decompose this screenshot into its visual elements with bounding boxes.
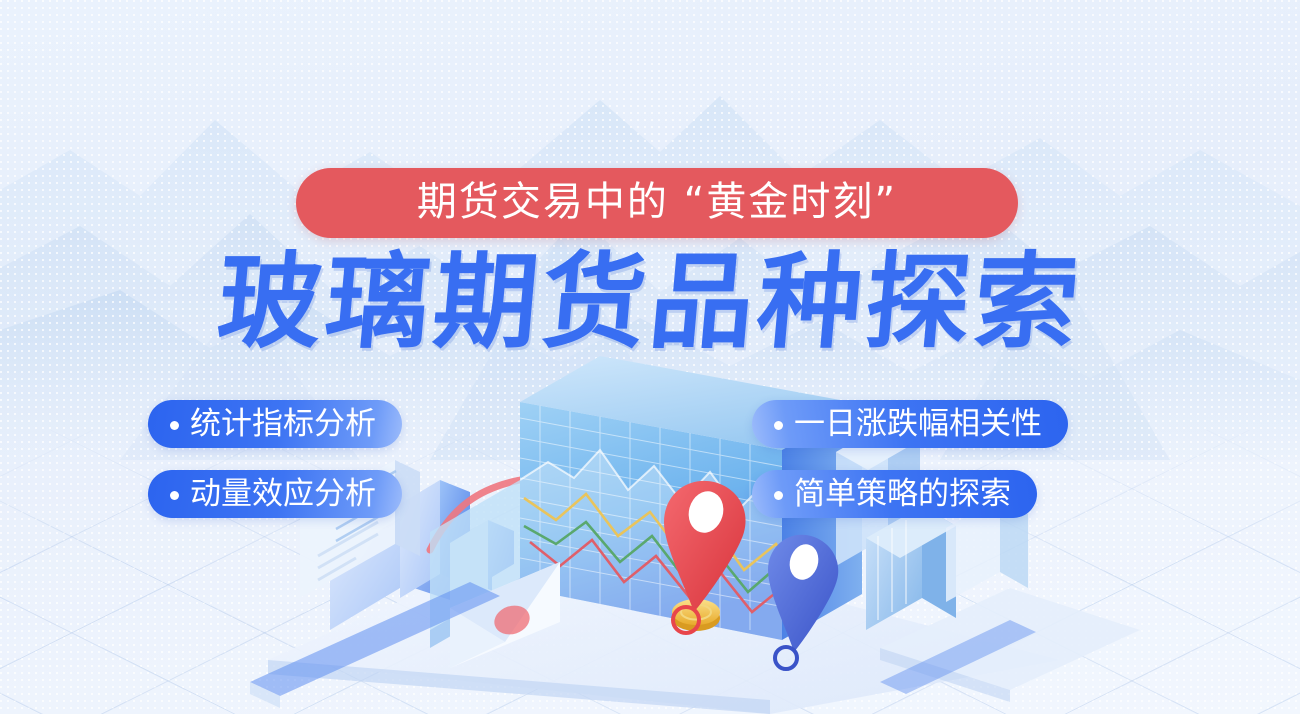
- bullet-dot-icon: [774, 421, 783, 430]
- bullet-pill-label: 简单策略的探索: [794, 479, 1011, 510]
- poster-content: 期货交易中的 “黄金时刻” 玻璃期货品种探索 统计指标分析 动量效应分析 一日涨…: [0, 0, 1300, 714]
- bullet-pill-statistics[interactable]: 统计指标分析: [148, 400, 402, 448]
- bullet-dot-icon: [170, 421, 179, 430]
- bullet-pill-label: 统计指标分析: [190, 409, 376, 440]
- subtitle-ribbon: 期货交易中的 “黄金时刻”: [296, 168, 1018, 238]
- bullet-dot-icon: [774, 491, 783, 500]
- bullet-pill-daily-correlation[interactable]: 一日涨跌幅相关性: [752, 400, 1068, 448]
- poster-banner: 期货交易中的 “黄金时刻” 玻璃期货品种探索 统计指标分析 动量效应分析 一日涨…: [0, 0, 1300, 714]
- bullet-dot-icon: [170, 491, 179, 500]
- bullet-pill-momentum[interactable]: 动量效应分析: [148, 470, 402, 518]
- page-title: 玻璃期货品种探索: [0, 250, 1300, 354]
- bullet-pill-simple-strategy[interactable]: 简单策略的探索: [752, 470, 1037, 518]
- bullet-pill-label: 一日涨跌幅相关性: [794, 409, 1042, 440]
- subtitle-text: 期货交易中的 “黄金时刻”: [417, 182, 897, 222]
- bullet-pill-label: 动量效应分析: [190, 479, 376, 510]
